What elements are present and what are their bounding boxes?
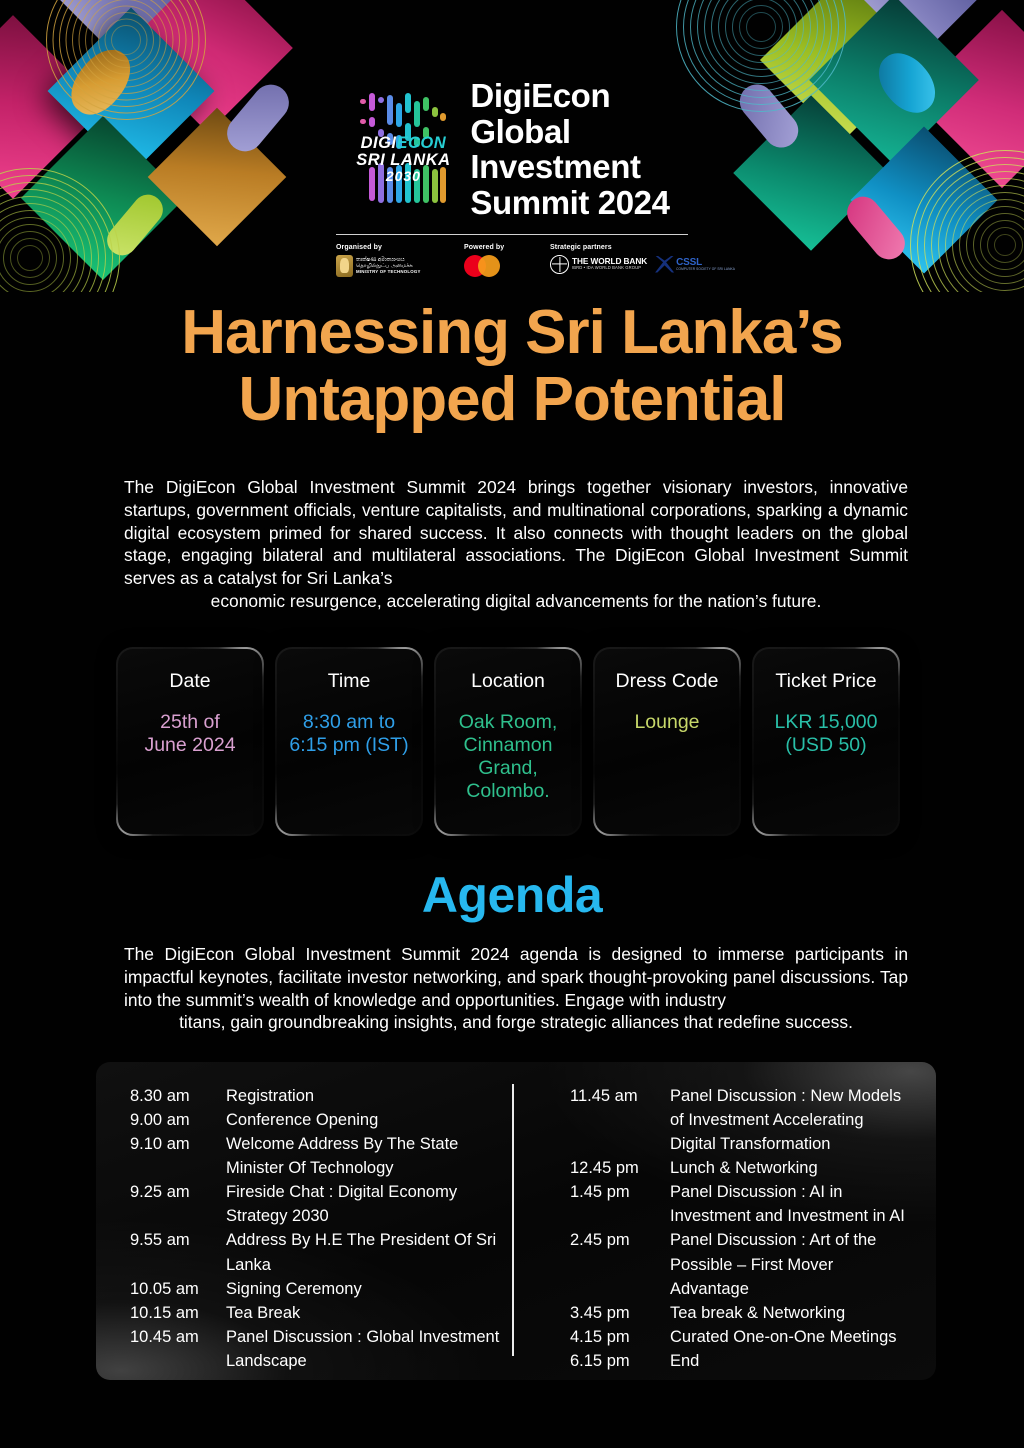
schedule-panel: 8.30 amRegistration9.00 amConference Ope… — [96, 1062, 936, 1380]
schedule-time: 12.45 pm — [570, 1156, 670, 1180]
info-card[interactable]: LocationOak Room, Cinnamon Grand, Colomb… — [434, 647, 582, 836]
mastercard-logo-icon — [464, 255, 500, 277]
schedule-time: 9.00 am — [130, 1108, 226, 1132]
ministry-of-technology-logo: තාක්ෂණ අමාත්‍යාංශය தொழில்நுட்ப அமைச்சு M… — [336, 255, 464, 277]
schedule-row: 2.45 pmPanel Discussion : Art of the Pos… — [570, 1228, 906, 1300]
schedule-row: 12.45 pmLunch & Networking — [570, 1156, 906, 1180]
ministry-english-text: MINISTRY OF TECHNOLOGY — [356, 269, 421, 274]
schedule-row: 9.55 amAddress By H.E The President Of S… — [130, 1228, 518, 1276]
schedule-row: 9.25 amFireside Chat : Digital Economy S… — [130, 1180, 518, 1228]
agenda-body-text: The DigiEcon Global Investment Summit 20… — [124, 944, 908, 1010]
schedule-time: 11.45 am — [570, 1084, 670, 1108]
brand-lockup: DIGIECON SRI LANKA 2030 DigiEcon Global … — [0, 78, 1024, 221]
info-card-value: 8:30 am to 6:15 pm (IST) — [286, 711, 412, 757]
schedule-row: 1.45 pmPanel Discussion : AI in Investme… — [570, 1180, 906, 1228]
schedule-description: Panel Discussion : New Models of Investm… — [670, 1084, 906, 1156]
partners-bar: Organised by තාක්ෂණ අමාත්‍යාංශය தொழில்நு… — [336, 244, 688, 277]
intro-body-text: The DigiEcon Global Investment Summit 20… — [124, 477, 908, 588]
header-block: DIGIECON SRI LANKA 2030 DigiEcon Global … — [0, 78, 1024, 277]
schedule-description: Registration — [226, 1084, 518, 1108]
schedule-time: 10.05 am — [130, 1277, 226, 1301]
schedule-time: 8.30 am — [130, 1084, 226, 1108]
logo-digi-text: DIGI — [361, 134, 397, 152]
info-card-title: Ticket Price — [763, 671, 889, 692]
organised-by-group: Organised by තාක්ෂණ අමාත්‍යාංශය தொழில்நு… — [336, 244, 464, 277]
logo-srilanka-text: SRI LANKA — [350, 152, 456, 169]
schedule-left-column: 8.30 amRegistration9.00 amConference Ope… — [130, 1084, 518, 1364]
schedule-time: 6.15 pm — [570, 1349, 670, 1373]
sri-lanka-emblem-icon — [336, 255, 353, 277]
powered-by-label: Powered by — [464, 244, 550, 251]
intro-paragraph: The DigiEcon Global Investment Summit 20… — [124, 476, 908, 613]
schedule-description: Lunch & Networking — [670, 1156, 906, 1180]
schedule-time: 3.45 pm — [570, 1301, 670, 1325]
header-divider — [336, 234, 688, 235]
cssl-logo: CSSL COMPUTER SOCIETY OF SRI LANKA — [655, 256, 735, 273]
info-card-value: Lounge — [604, 711, 730, 734]
schedule-description: Tea Break — [226, 1301, 518, 1325]
cssl-subtitle: COMPUTER SOCIETY OF SRI LANKA — [676, 268, 735, 272]
schedule-row: 3.45 pmTea break & Networking — [570, 1301, 906, 1325]
schedule-right-column: 11.45 amPanel Discussion : New Models of… — [518, 1084, 906, 1364]
world-bank-logo: THE WORLD BANK IBRD • IDA WORLD BANK GRO… — [550, 255, 647, 274]
globe-icon — [550, 255, 569, 274]
info-card-title: Dress Code — [604, 671, 730, 692]
schedule-time: 9.25 am — [130, 1180, 226, 1204]
schedule-row: 4.15 pmCurated One-on-One Meetings — [570, 1325, 906, 1349]
schedule-row: 10.45 amPanel Discussion : Global Invest… — [130, 1325, 518, 1373]
schedule-row: 9.00 amConference Opening — [130, 1108, 518, 1132]
strategic-partners-group: Strategic partners THE WORLD BANK IBRD •… — [550, 244, 688, 274]
schedule-time: 2.45 pm — [570, 1228, 670, 1252]
schedule-time: 9.10 am — [130, 1132, 226, 1156]
info-card[interactable]: Dress CodeLounge — [593, 647, 741, 836]
schedule-row: 10.15 amTea Break — [130, 1301, 518, 1325]
schedule-row: 11.45 amPanel Discussion : New Models of… — [570, 1084, 906, 1156]
schedule-row: 9.10 amWelcome Address By The State Mini… — [130, 1132, 518, 1180]
schedule-description: Address By H.E The President Of Sri Lank… — [226, 1228, 518, 1276]
info-card[interactable]: Time8:30 am to 6:15 pm (IST) — [275, 647, 423, 836]
info-card[interactable]: Ticket PriceLKR 15,000 (USD 50) — [752, 647, 900, 836]
strategic-partners-label: Strategic partners — [550, 244, 688, 251]
info-card-value: 25th of June 2024 — [127, 711, 253, 757]
digiecon-logo-icon: DIGIECON SRI LANKA 2030 — [354, 93, 452, 205]
logo-wordmark: DIGIECON SRI LANKA 2030 — [350, 135, 456, 183]
schedule-time: 10.15 am — [130, 1301, 226, 1325]
schedule-vertical-divider — [512, 1084, 514, 1356]
schedule-description: Conference Opening — [226, 1108, 518, 1132]
schedule-time: 10.45 am — [130, 1325, 226, 1349]
agenda-last-line: titans, gain groundbreaking insights, an… — [124, 1011, 908, 1034]
schedule-description: Curated One-on-One Meetings — [670, 1325, 906, 1349]
schedule-time: 1.45 pm — [570, 1180, 670, 1204]
headline-line-1: Harnessing Sri Lanka’s — [0, 300, 1024, 367]
intro-last-line: economic resurgence, accelerating digita… — [124, 590, 908, 613]
info-card-title: Location — [445, 671, 571, 692]
info-card-title: Date — [127, 671, 253, 692]
page-title: Harnessing Sri Lanka’s Untapped Potentia… — [0, 300, 1024, 434]
powered-by-group: Powered by — [464, 244, 550, 277]
agenda-paragraph: The DigiEcon Global Investment Summit 20… — [124, 943, 908, 1034]
schedule-description: Fireside Chat : Digital Economy Strategy… — [226, 1180, 518, 1228]
cssl-mark-icon — [655, 256, 674, 273]
schedule-time: 9.55 am — [130, 1228, 226, 1252]
schedule-description: Tea break & Networking — [670, 1301, 906, 1325]
info-card-title: Time — [286, 671, 412, 692]
organised-by-label: Organised by — [336, 244, 464, 251]
logo-year-text: 2030 — [350, 169, 456, 183]
schedule-description: Panel Discussion : Global Investment Lan… — [226, 1325, 518, 1373]
mastercard-yellow-circle — [478, 255, 500, 277]
schedule-description: Panel Discussion : Art of the Possible –… — [670, 1228, 906, 1300]
logo-econ-text: ECON — [397, 134, 447, 152]
info-card-value: Oak Room, Cinnamon Grand, Colombo. — [445, 711, 571, 803]
poster-page: DIGIECON SRI LANKA 2030 DigiEcon Global … — [0, 0, 1024, 1448]
schedule-time: 4.15 pm — [570, 1325, 670, 1349]
schedule-description: Panel Discussion : AI in Investment and … — [670, 1180, 906, 1228]
agenda-heading: Agenda — [0, 866, 1024, 924]
schedule-description: Signing Ceremony — [226, 1277, 518, 1301]
headline-line-2: Untapped Potential — [0, 367, 1024, 434]
info-card-value: LKR 15,000 (USD 50) — [763, 711, 889, 757]
schedule-row: 8.30 amRegistration — [130, 1084, 518, 1108]
schedule-row: 10.05 amSigning Ceremony — [130, 1277, 518, 1301]
schedule-description: Welcome Address By The State Minister Of… — [226, 1132, 518, 1180]
schedule-row: 6.15 pmEnd — [570, 1349, 906, 1373]
schedule-description: End — [670, 1349, 906, 1373]
world-bank-subtitle: IBRD • IDA WORLD BANK GROUP — [572, 266, 647, 271]
summit-title: DigiEcon Global Investment Summit 2024 — [470, 78, 669, 221]
info-card[interactable]: Date25th of June 2024 — [116, 647, 264, 836]
info-cards-row: Date25th of June 2024Time8:30 am to 6:15… — [116, 647, 910, 836]
